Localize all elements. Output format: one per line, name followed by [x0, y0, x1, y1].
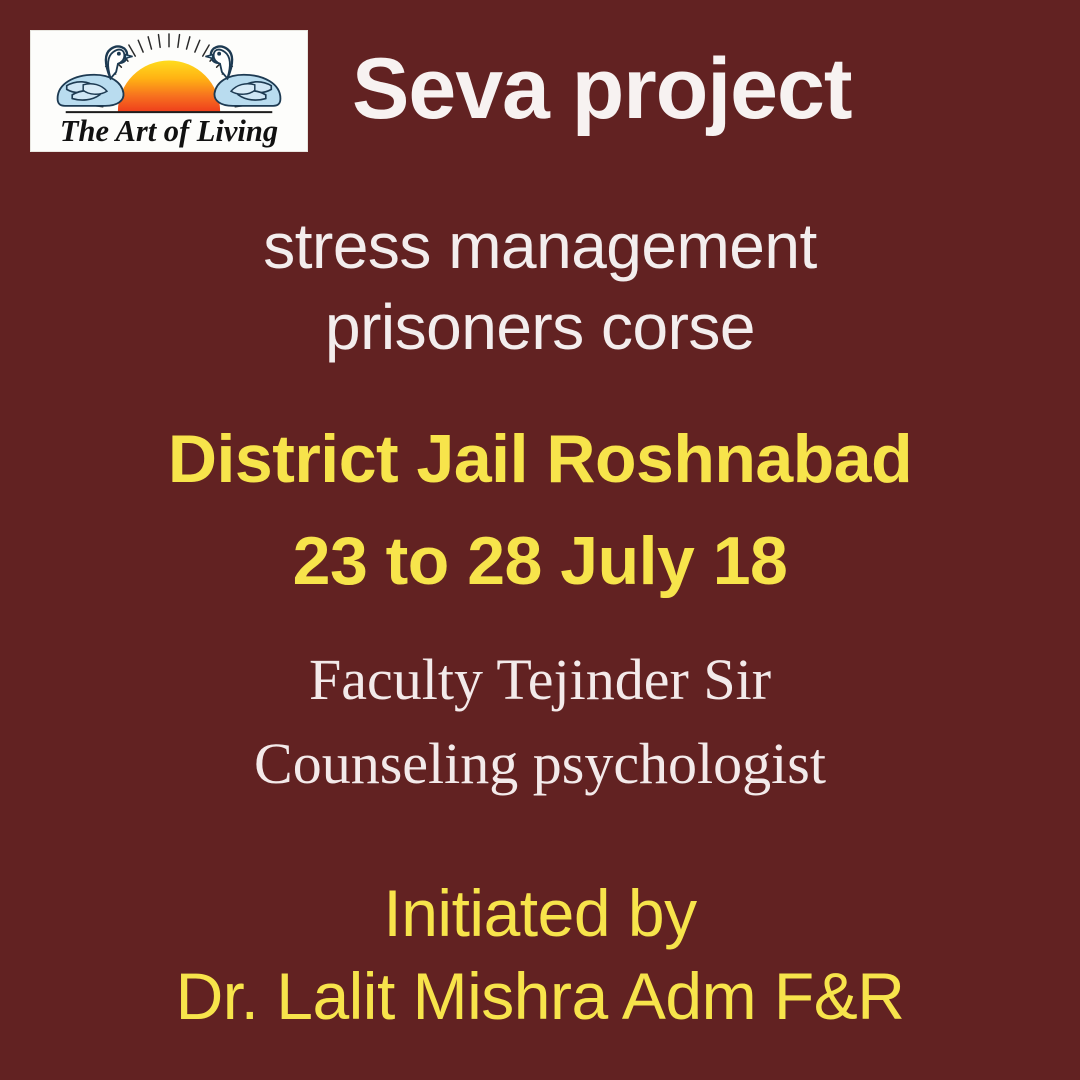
logo-artwork: The Art of Living — [31, 31, 307, 151]
initiated-by-info: Initiated by Dr. Lalit Mishra Adm F&R — [0, 872, 1080, 1038]
venue-and-dates: District Jail Roshnabad 23 to 28 July 18 — [0, 408, 1080, 612]
faculty-name: Faculty Tejinder Sir — [0, 638, 1080, 722]
initiated-by-label: Initiated by — [0, 872, 1080, 955]
swan-left-icon — [58, 46, 133, 105]
logo-wordmark: The Art of Living — [60, 114, 278, 148]
page-title: Seva project — [352, 44, 851, 134]
course-heading: stress management prisoners corse — [0, 206, 1080, 369]
course-line-2: prisoners corse — [0, 287, 1080, 368]
poster-header: The Art of Living Seva project — [0, 0, 1080, 180]
venue-name: District Jail Roshnabad — [0, 408, 1080, 510]
swan-right-icon — [205, 46, 280, 105]
faculty-designation: Counseling psychologist — [0, 722, 1080, 806]
faculty-info: Faculty Tejinder Sir Counseling psycholo… — [0, 638, 1080, 806]
initiated-by-name: Dr. Lalit Mishra Adm F&R — [0, 955, 1080, 1038]
event-dates: 23 to 28 July 18 — [0, 510, 1080, 612]
sun-icon — [118, 61, 220, 112]
course-line-1: stress management — [0, 206, 1080, 287]
art-of-living-logo: The Art of Living — [30, 30, 308, 152]
seva-project-poster: The Art of Living Seva project stress ma… — [0, 0, 1080, 1080]
